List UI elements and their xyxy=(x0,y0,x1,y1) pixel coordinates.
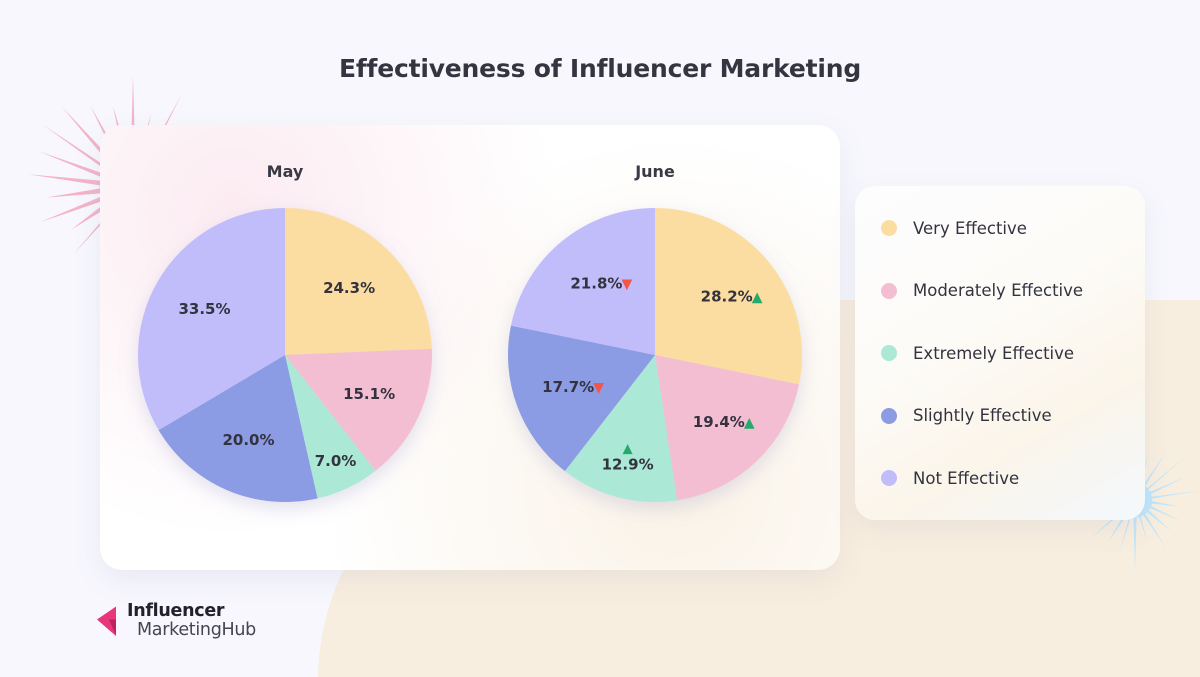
pie-slice-label: 21.8% xyxy=(570,274,622,292)
logo-arrow-icon xyxy=(95,603,129,643)
legend-item-slightly-effective[interactable]: Slightly Effective xyxy=(881,384,1145,447)
logo-wordmark: Influencer MarketingHub xyxy=(131,603,256,640)
brand-logo[interactable]: Influencer MarketingHub xyxy=(95,600,256,643)
legend-swatch-icon xyxy=(881,408,897,424)
trend-up-icon: ▲ xyxy=(752,289,763,305)
legend-item-label: Very Effective xyxy=(913,219,1027,238)
pie-slice-label: 20.0% xyxy=(222,431,274,449)
legend-item-very-effective[interactable]: Very Effective xyxy=(881,197,1145,260)
page-title: Effectiveness of Influencer Marketing xyxy=(0,54,1200,83)
pie-slice-label: 7.0% xyxy=(315,452,357,470)
legend-card: Very Effective Moderately Effective Extr… xyxy=(855,186,1145,520)
logo-line-1: Influencer xyxy=(127,603,256,621)
legend-item-not-effective[interactable]: Not Effective xyxy=(881,447,1145,510)
pie-panel-may: May 24.3%15.1%7.0%20.0%33.5% xyxy=(100,125,470,570)
legend-swatch-icon xyxy=(881,345,897,361)
trend-down-icon: ▼ xyxy=(622,276,633,292)
pie-title-may: May xyxy=(100,162,470,181)
logo-line-2: MarketingHub xyxy=(137,622,256,640)
legend-item-label: Slightly Effective xyxy=(913,406,1052,425)
pie-title-june: June xyxy=(470,162,840,181)
pie-panel-june: June 28.2%▲19.4%▲12.9%▲17.7%▼21.8%▼ xyxy=(470,125,840,570)
pie-panels: May 24.3%15.1%7.0%20.0%33.5% June 28.2%▲… xyxy=(100,125,840,570)
trend-down-icon: ▼ xyxy=(593,380,604,396)
trend-up-icon: ▲ xyxy=(623,441,633,456)
legend-item-label: Extremely Effective xyxy=(913,344,1074,363)
legend-item-label: Moderately Effective xyxy=(913,281,1083,300)
legend-swatch-icon xyxy=(881,220,897,236)
legend-item-extremely-effective[interactable]: Extremely Effective xyxy=(881,322,1145,385)
pie-slice-label: 15.1% xyxy=(343,385,395,403)
legend-item-moderately-effective[interactable]: Moderately Effective xyxy=(881,259,1145,322)
pie-slice-label: 12.9% xyxy=(602,455,654,473)
trend-up-icon: ▲ xyxy=(744,415,755,431)
legend-swatch-icon xyxy=(881,283,897,299)
pie-chart-may[interactable]: 24.3%15.1%7.0%20.0%33.5% xyxy=(130,200,440,510)
pie-slice-label: 24.3% xyxy=(323,279,375,297)
pie-slice-label: 33.5% xyxy=(178,300,230,318)
pie-slice-label: 19.4% xyxy=(693,413,745,431)
legend-item-label: Not Effective xyxy=(913,469,1019,488)
legend-swatch-icon xyxy=(881,470,897,486)
pie-slice-label: 28.2% xyxy=(701,287,753,305)
pie-chart-june[interactable]: 28.2%▲19.4%▲12.9%▲17.7%▼21.8%▼ xyxy=(500,200,810,510)
charts-card: May 24.3%15.1%7.0%20.0%33.5% June 28.2%▲… xyxy=(100,125,840,570)
pie-slice-label: 17.7% xyxy=(542,378,594,396)
